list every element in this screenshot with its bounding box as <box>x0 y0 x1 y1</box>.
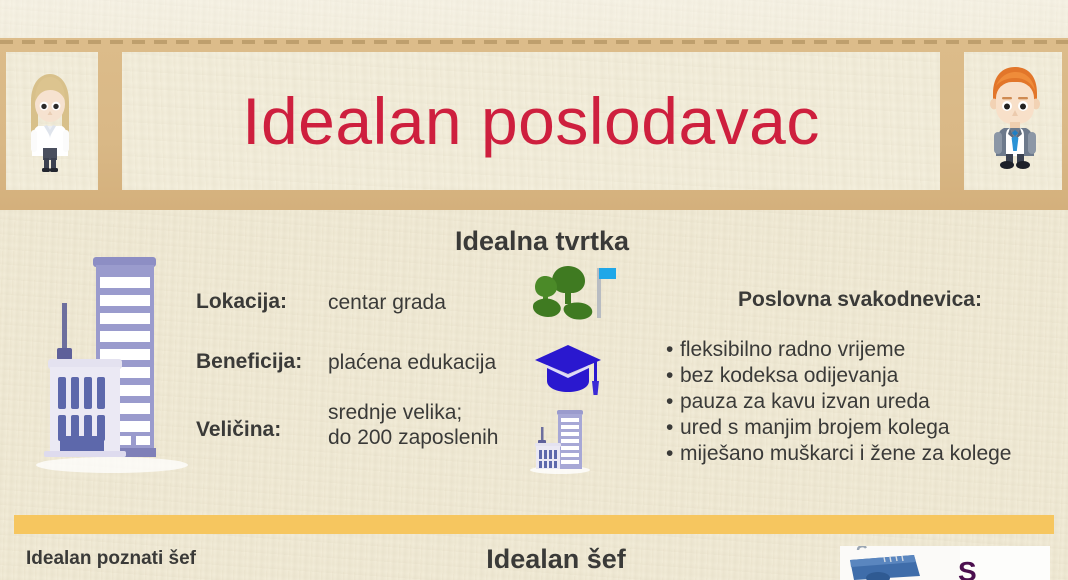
graduation-cap-icon <box>533 343 603 404</box>
spec-label-location: Lokacija: <box>196 290 328 314</box>
spec-value-benefits: plaćena edukacija <box>328 350 496 375</box>
city-buildings-illustration <box>30 243 190 478</box>
daily-section-heading: Poslovna svakodnevica: <box>660 288 1060 312</box>
list-item: ured s manjim brojem kolega <box>666 415 1066 441</box>
male-employee-avatar <box>984 62 1046 174</box>
company-section-heading: Idealna tvrtka <box>0 226 1068 257</box>
bottom-right-card: S <box>840 546 1050 580</box>
spec-label-benefits: Beneficija: <box>196 350 328 374</box>
list-item: miješano muškarci i žene za kolege <box>666 441 1066 467</box>
spec-row-benefits: Beneficija: plaćena edukacija <box>196 350 526 375</box>
trees-park-icon <box>528 262 616 329</box>
section-divider-bar <box>14 515 1054 534</box>
blue-notebook-photo <box>840 546 960 580</box>
list-item: pauza za kavu izvan ureda <box>666 389 1066 415</box>
slide-canvas: Idealan poslodavac <box>0 0 1068 580</box>
page-title: Idealan poslodavac <box>122 52 940 190</box>
spec-row-size: Veličina: srednje velika; do 200 zaposle… <box>196 400 526 450</box>
list-item: bez kodeksa odijevanja <box>666 363 1066 389</box>
header-dashed-rule <box>0 40 1068 44</box>
spec-row-location: Lokacija: centar grada <box>196 290 526 315</box>
spec-label-size: Veličina: <box>196 400 328 442</box>
office-building-icon <box>527 407 593 480</box>
spec-value-location: centar grada <box>328 290 446 315</box>
female-employee-avatar <box>18 68 82 176</box>
daily-bullet-list: fleksibilno radno vrijeme bez kodeksa od… <box>666 337 1066 467</box>
bottom-card-text: S <box>958 556 977 580</box>
spec-value-size: srednje velika; do 200 zaposlenih <box>328 400 498 450</box>
company-specs-list: Lokacija: centar grada Beneficija: plaće… <box>196 290 526 450</box>
list-item: fleksibilno radno vrijeme <box>666 337 1066 363</box>
